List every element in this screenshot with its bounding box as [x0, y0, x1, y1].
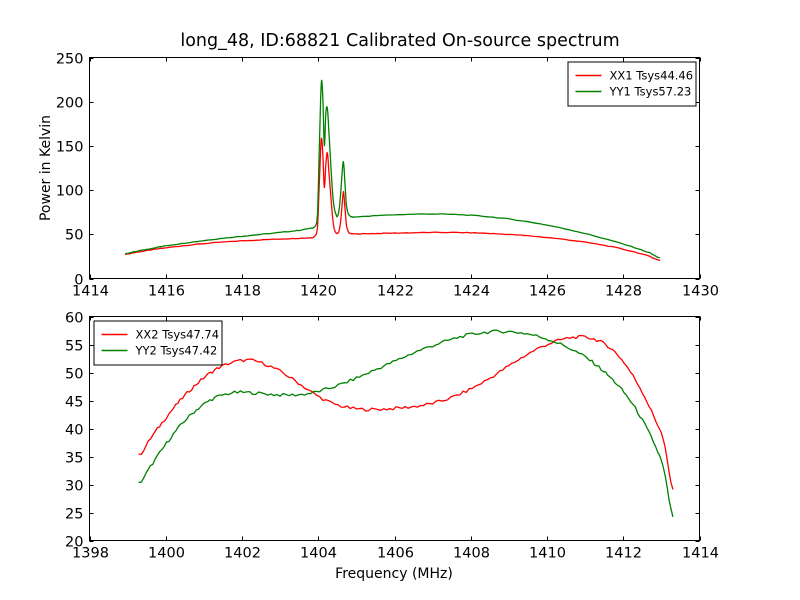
x-tick-label: 1418: [224, 284, 261, 300]
x-tick-label: 1408: [453, 546, 490, 562]
y-tick-label: 30: [65, 479, 83, 495]
x-tick-label: 1404: [300, 546, 337, 562]
y-tick-label: 150: [56, 140, 84, 156]
y-tick-label: 50: [65, 367, 83, 383]
y-tick-label: 35: [65, 451, 83, 467]
x-tick-label: 1428: [605, 284, 642, 300]
data-series-line: [126, 138, 660, 260]
bottom-panel-x-axis-label: Frequency (MHz): [335, 566, 453, 582]
legend-entry-label[interactable]: YY1 Tsys57.23: [609, 85, 692, 99]
x-tick-label: 1410: [529, 546, 566, 562]
x-tick-label: 1406: [377, 546, 414, 562]
y-tick-label: 40: [65, 423, 83, 439]
y-tick-label: 55: [65, 339, 83, 355]
x-tick-label: 1430: [682, 284, 719, 300]
y-tick-label: 45: [65, 395, 83, 411]
legend-entry-label[interactable]: YY2 Tsys47.42: [135, 344, 218, 358]
top-panel-axes: 1414141614181420142214241426142814300501…: [38, 52, 719, 300]
figure-title: long_48, ID:68821 Calibrated On-source s…: [180, 31, 619, 51]
x-tick-label: 1424: [453, 284, 490, 300]
bottom-panel-legend[interactable]: XX2 Tsys47.74YY2 Tsys47.42: [94, 321, 222, 365]
x-tick-label: 1414: [682, 546, 719, 562]
matplotlib-figure: long_48, ID:68821 Calibrated On-source s…: [0, 0, 800, 600]
y-tick-label: 60: [65, 311, 83, 327]
x-tick-label: 1402: [224, 546, 261, 562]
y-tick-label: 25: [65, 507, 83, 523]
y-tick-label: 100: [56, 184, 84, 200]
x-tick-label: 1426: [529, 284, 566, 300]
x-tick-label: 1412: [605, 546, 642, 562]
top-panel-series: [126, 80, 660, 260]
x-tick-label: 1422: [377, 284, 414, 300]
y-tick-label: 0: [74, 273, 83, 289]
legend-entry-label[interactable]: XX1 Tsys44.46: [610, 69, 694, 83]
top-panel-y-axis-label: Power in Kelvin: [38, 115, 54, 221]
y-tick-label: 20: [65, 535, 83, 551]
x-tick-label: 1400: [148, 546, 185, 562]
y-tick-label: 200: [56, 96, 84, 112]
figure-canvas: long_48, ID:68821 Calibrated On-source s…: [0, 0, 800, 600]
x-tick-label: 1420: [300, 284, 337, 300]
x-tick-label: 1416: [148, 284, 185, 300]
legend-entry-label[interactable]: XX2 Tsys47.74: [136, 328, 220, 342]
top-panel-legend[interactable]: XX1 Tsys44.46YY1 Tsys57.23: [568, 62, 696, 106]
data-series-line: [126, 80, 660, 258]
y-tick-label: 250: [56, 52, 84, 68]
y-tick-label: 50: [65, 228, 83, 244]
bottom-panel-axes: 1398140014021404140614081410141214142025…: [65, 311, 719, 583]
